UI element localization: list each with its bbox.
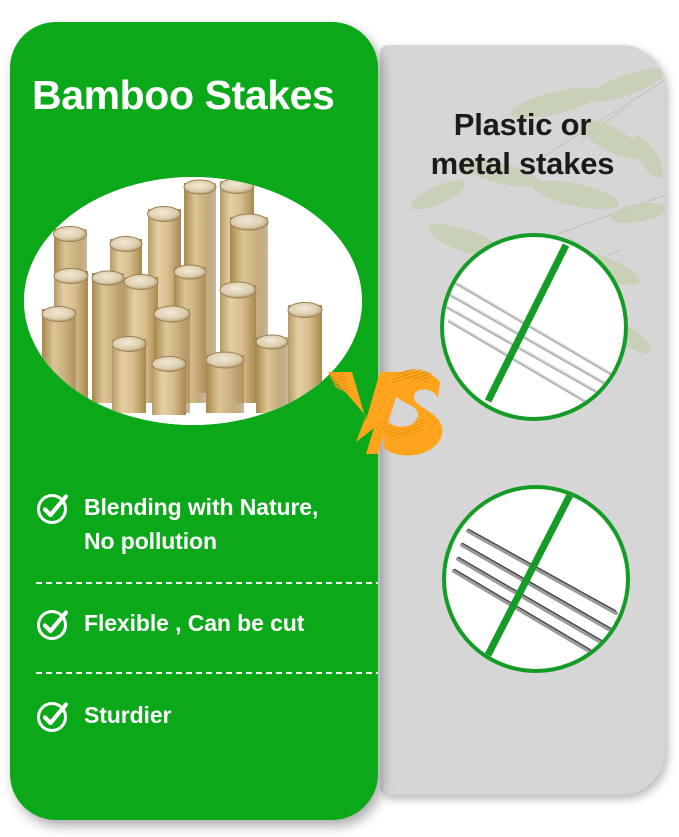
feature-label-2: Flexible , Can be cut [84, 606, 304, 640]
prohibition-circle-icon-plastic [440, 233, 628, 421]
check-circle-icon [36, 607, 70, 641]
right-panel-title: Plastic or metal stakes [380, 105, 665, 183]
right-panel-title-line1: Plastic or [380, 105, 665, 144]
versus-badge [322, 358, 450, 470]
feature-label-1: Blending with Nature, No pollution [84, 490, 318, 558]
feature-label-1-line1: Blending with Nature, [84, 494, 318, 520]
infographic-stage: Plastic or metal stakes [0, 0, 679, 837]
check-circle-icon [36, 491, 70, 525]
right-panel-title-line2: metal stakes [380, 144, 665, 183]
left-panel-title: Bamboo Stakes [32, 70, 362, 120]
feature-item-2: Flexible , Can be cut [36, 584, 378, 672]
prohibition-circle-icon-metal [442, 485, 630, 673]
feature-list: Blending with Nature, No pollution Flexi… [36, 490, 378, 740]
feature-label-3: Sturdier [84, 698, 171, 732]
feature-label-1-line2: No pollution [84, 528, 217, 554]
bamboo-stakes-photo [24, 177, 362, 425]
feature-item-1: Blending with Nature, No pollution [36, 490, 378, 582]
check-circle-icon [36, 699, 70, 733]
feature-item-3: Sturdier [36, 674, 378, 740]
